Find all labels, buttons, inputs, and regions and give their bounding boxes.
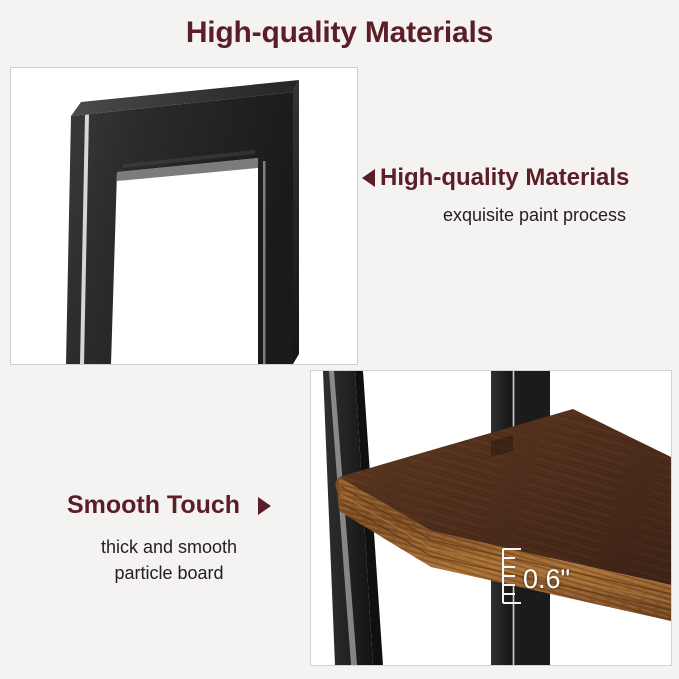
page-title: High-quality Materials [0, 16, 679, 50]
callout-subtext: thick and smooth particle board [30, 534, 308, 586]
callout-headline: Smooth Touch [67, 492, 240, 520]
callout-headline-row: High-quality Materials [362, 165, 679, 191]
metal-frame-photo-panel: Close-up of black powder-coated metal fr… [10, 67, 358, 365]
metal-frame-photo [11, 68, 357, 364]
callout-subtext-line-1: thick and smooth [30, 534, 308, 560]
metal-frame-illustration [11, 68, 357, 364]
thickness-label: 0.6" [523, 564, 570, 595]
callout-headline-row: Smooth Touch [30, 492, 308, 520]
triangle-left-icon [362, 169, 375, 187]
callout-subtext: exquisite paint process [362, 203, 679, 227]
callout-high-quality-materials: High-quality Materials exquisite paint p… [362, 165, 679, 228]
callout-headline: High-quality Materials [380, 165, 629, 191]
marketing-image: High-quality Materials [0, 0, 679, 679]
callout-subtext-line-2: particle board [30, 560, 308, 586]
triangle-right-icon [258, 497, 271, 515]
shelf-board-photo: 0.6" [311, 371, 671, 665]
shelf-board-photo-panel: 0.6" Close-up of rustic brown particle b… [310, 370, 672, 666]
callout-smooth-touch: Smooth Touch thick and smooth particle b… [30, 492, 308, 586]
shelf-board-illustration [311, 371, 671, 665]
